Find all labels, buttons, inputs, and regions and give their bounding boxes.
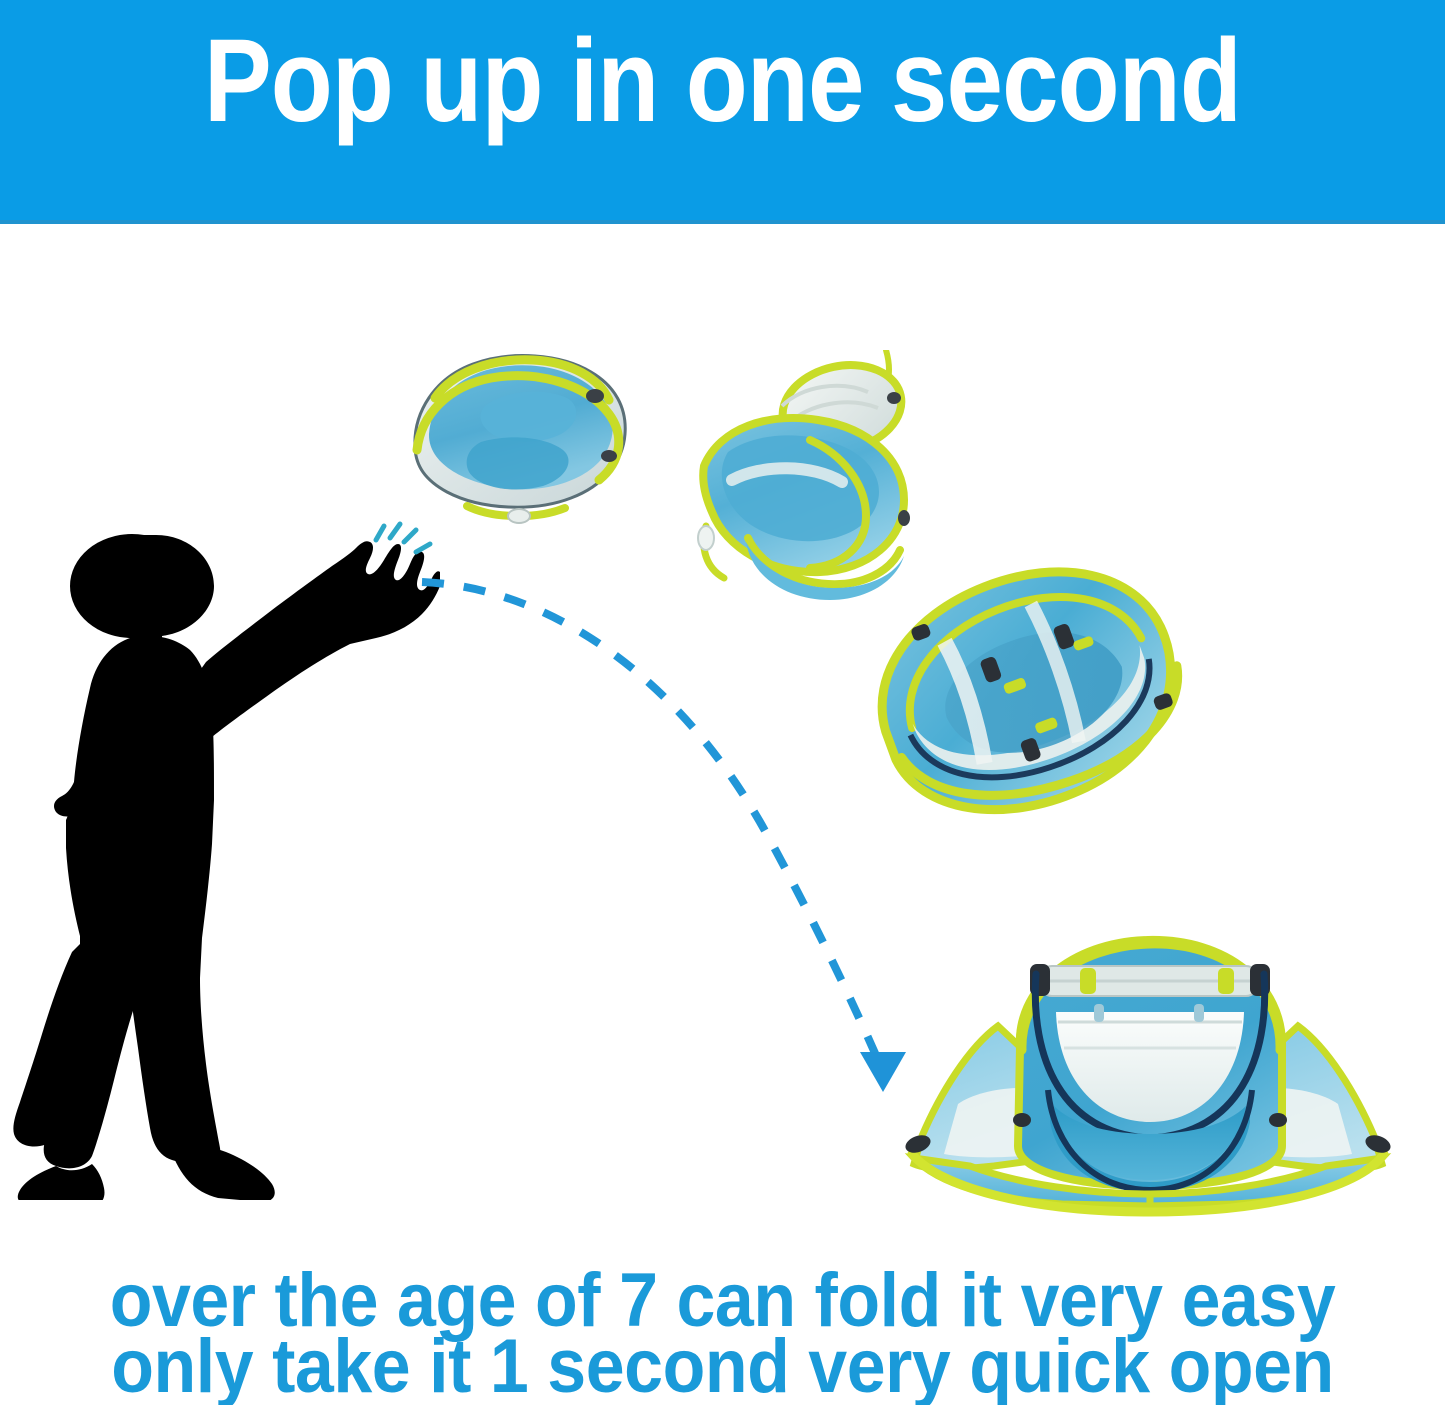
header-banner: Pop up in one second: [0, 0, 1445, 224]
tent1-clip-side: [601, 450, 617, 462]
tent2-clip: [887, 392, 901, 404]
bottom-caption: over the age of 7 can fold it very easy …: [58, 1268, 1387, 1400]
tent4-flap-strap-left: [1080, 968, 1096, 994]
tent4-flap-strap-right: [1218, 968, 1234, 994]
tent1-clip-top: [586, 389, 604, 403]
tent4-mesh-tab-right: [1194, 1004, 1204, 1022]
tent-stage-4-open: [898, 908, 1398, 1230]
silhouette-foot-back: [18, 1164, 105, 1200]
tent-stage-3-opening: [862, 558, 1222, 910]
caption-line-2: only take it 1 second very quick open: [58, 1334, 1387, 1400]
tent4-clip-left: [1013, 1113, 1031, 1127]
tent-stage-1-folded: [395, 338, 650, 538]
trajectory-arrow: [390, 540, 930, 1100]
tent1-buckle: [508, 509, 530, 523]
silhouette-head: [70, 534, 194, 638]
tent4-mesh-tab-left: [1094, 1004, 1104, 1022]
dashed-arc-path: [422, 582, 878, 1060]
tent2-clip-2: [898, 510, 910, 526]
tent4-clip-right: [1269, 1113, 1287, 1127]
silhouette-body: [13, 534, 440, 1200]
tent2-buckle-left: [698, 526, 714, 550]
silhouette-foot-front: [170, 1146, 275, 1200]
infographic-page: Pop up in one second: [0, 0, 1445, 1405]
page-title: Pop up in one second: [101, 22, 1344, 140]
child-silhouette: [10, 500, 440, 1200]
